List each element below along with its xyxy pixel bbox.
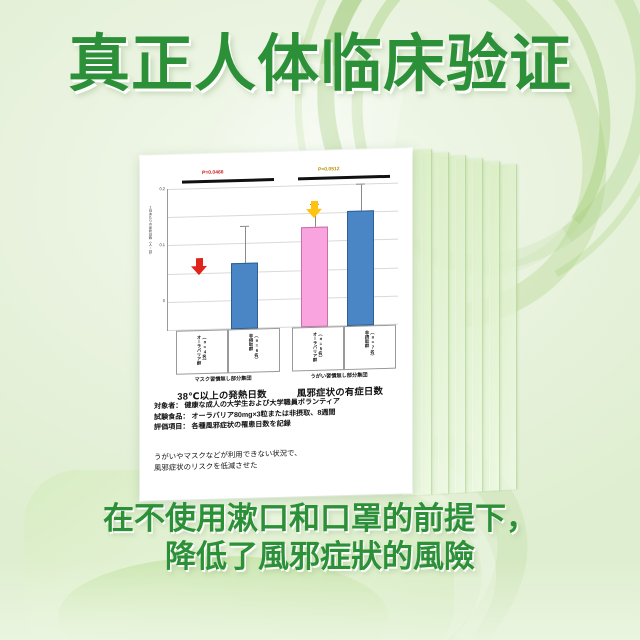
clinical-chart: １日あたりの症状日数（人・日） 0.2 0.1 0 P=0.0466 (140, 164, 412, 372)
study-conclusion: うがいやマスクなどが利用できない状況で、 風邪症状のリスクを低減させた (154, 444, 404, 473)
subgroup-label-cold: うがい習慣無し部分集団 (286, 371, 392, 381)
category-label-box: オーラバリア群 （n=5名） (292, 326, 344, 371)
category-label-box: 非摂取群 （n=7名） (344, 325, 396, 370)
study-meta: 対象者： 健康な成人の大学生および大学職員ボランティア 試験食品： オーラバリア… (154, 394, 404, 432)
bar-non-intake (347, 210, 374, 326)
banner-line-2: 降低了風邪症狀的風險 (0, 538, 640, 576)
category-label-box: オーラバリア群 （n=4名） (176, 329, 228, 374)
error-bar (361, 185, 362, 211)
bottom-banner: 在不使用漱口和口罩的前提下， 降低了風邪症狀的風險 (0, 500, 640, 576)
chart-panel-fever: P=0.0466 (176, 186, 280, 331)
bar-non-intake (231, 263, 258, 330)
error-bar-cap (240, 226, 249, 227)
meta-key: 評価項目： (154, 421, 189, 432)
y-tick-label: 0 (154, 298, 165, 303)
poster-canvas: 真正人体临床验证 １日あたりの症状日数（人・日） 0.2 0.1 0 (0, 0, 640, 640)
y-tick-label: 0.1 (154, 242, 165, 247)
chart-panel-cold-symptoms: P=0.0512 (292, 183, 396, 328)
chart-category-row: オーラバリア群 （n=4名） 非摂取群 （n=6名） オーラバリア群 （n=5名… (168, 325, 398, 375)
chart-plot-area: P=0.0466 P=0.0512 (168, 183, 398, 331)
significance-bar (298, 175, 390, 181)
error-bar-cap (356, 184, 365, 185)
bar-oral-barrier (301, 227, 328, 328)
paper-stack (404, 150, 534, 495)
banner-line-1: 在不使用漱口和口罩的前提下， (0, 500, 640, 538)
y-tick-label: 0.2 (154, 186, 165, 191)
significance-bar (182, 178, 274, 184)
meta-value: 各種風邪症状の罹患日数を記録 (191, 419, 290, 432)
category-label-box: 非摂取群 （n=6名） (228, 328, 280, 373)
meta-key: 対象者： (154, 401, 182, 412)
p-value-label: P=0.0466 (202, 169, 224, 176)
page-title: 真正人体临床验证 (0, 34, 640, 96)
p-value-label: P=0.0512 (318, 166, 340, 173)
subgroup-label-fever: マスク習慣無し部分集団 (170, 374, 276, 384)
error-bar (245, 227, 246, 263)
clinical-document-card: １日あたりの症状日数（人・日） 0.2 0.1 0 P=0.0466 (140, 148, 412, 501)
chart-y-axis-label: １日あたりの症状日数（人・日） (142, 205, 152, 256)
